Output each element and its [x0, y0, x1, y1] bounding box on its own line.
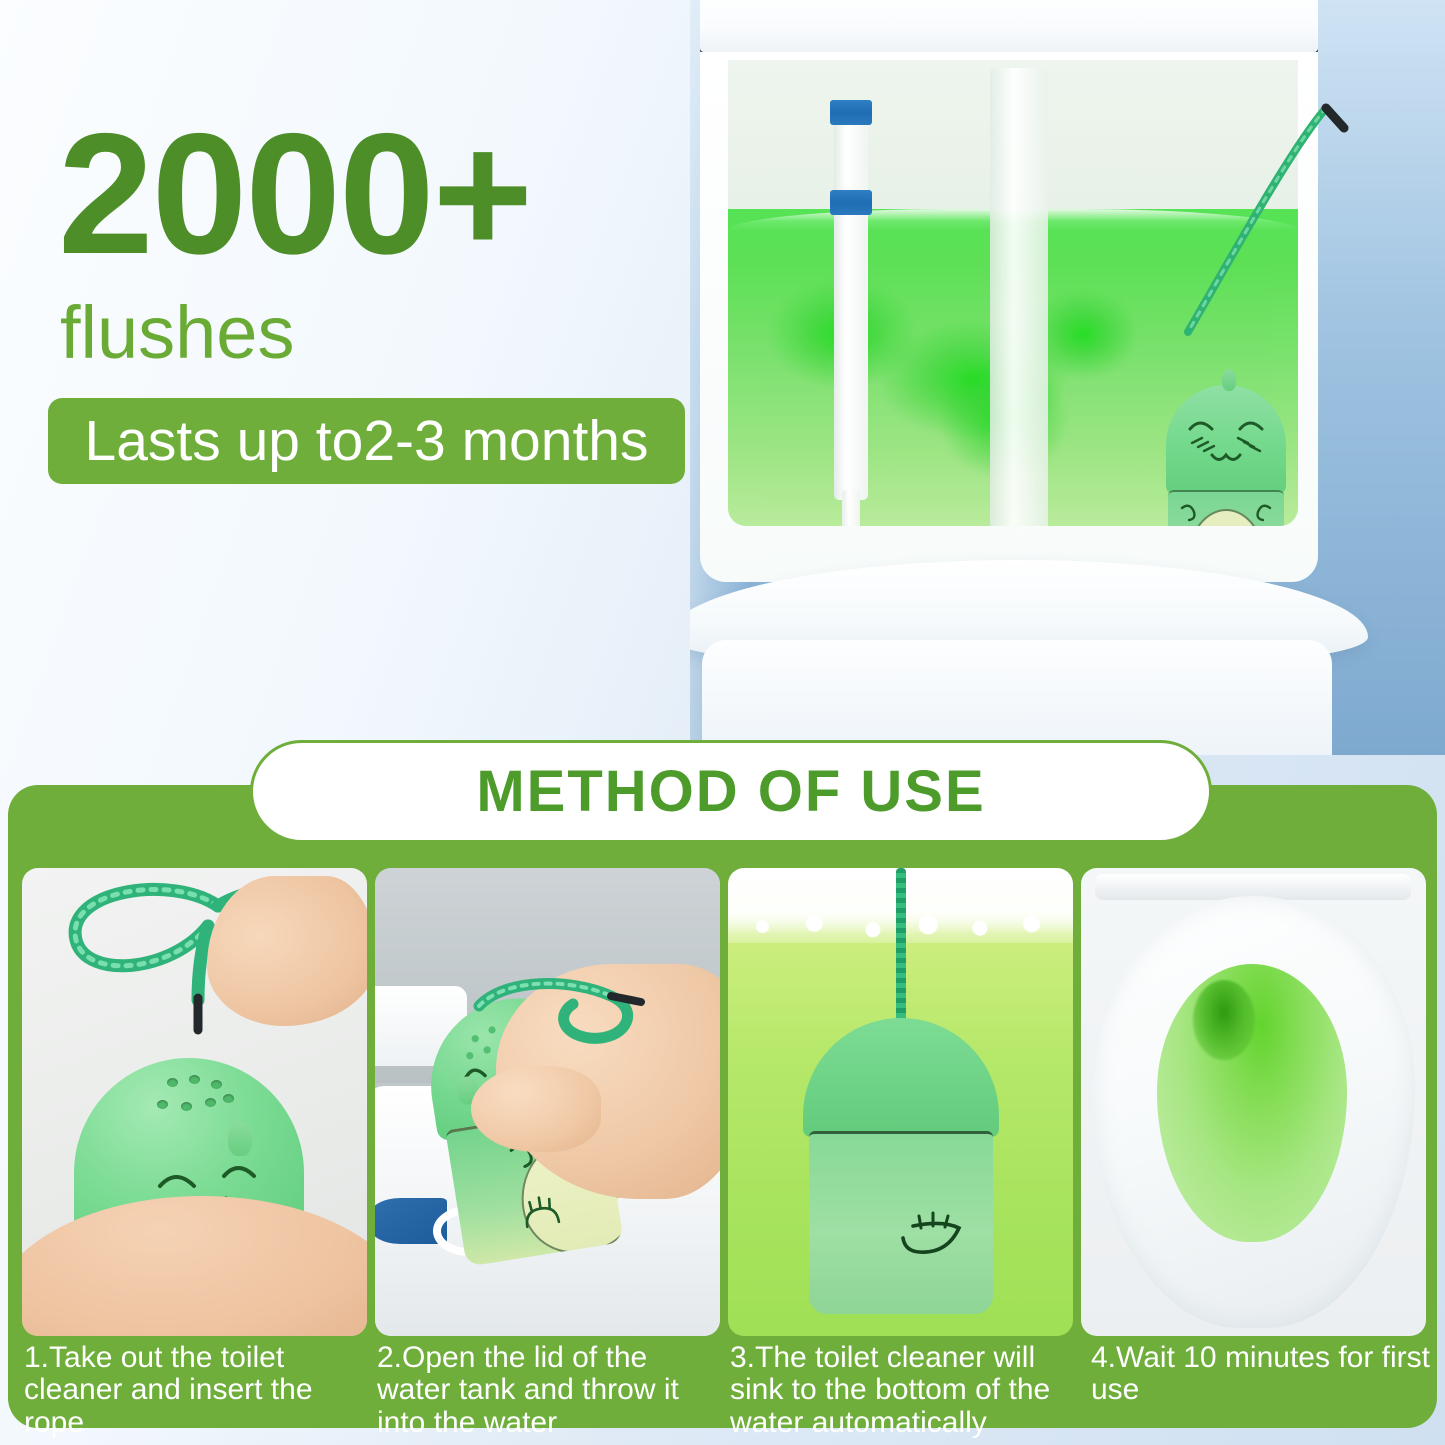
fill-valve-band-lower [830, 190, 872, 215]
toilet-tank-cavity [728, 60, 1298, 526]
cleaner-arms-feet-icon [1168, 492, 1284, 526]
fill-valve-band-top [830, 100, 872, 125]
water-swirl [1193, 980, 1255, 1060]
step-photo-1 [22, 868, 367, 1336]
step-caption-1: 1.Take out the toilet cleaner and insert… [24, 1342, 369, 1434]
step-caption-2: 2.Open the lid of the water tank and thr… [377, 1342, 722, 1434]
steps-caption-row: 1.Take out the toilet cleaner and insert… [24, 1342, 1428, 1434]
step-photo-3 [728, 868, 1073, 1336]
fill-valve [834, 100, 868, 500]
cleaner-cap [1166, 385, 1286, 494]
hanging-rope [896, 868, 906, 1028]
steps-photo-row [22, 868, 1428, 1338]
headline-subtitle: flushes [60, 296, 294, 370]
dinosaur-cleaner-in-tank [1166, 385, 1286, 526]
hand-fingers [207, 876, 367, 1026]
overflow-tube [990, 68, 1048, 526]
duration-badge-label: Lasts up to2-3 months [85, 408, 649, 474]
hero-product-scene [690, 0, 1445, 755]
cleaner-cap [803, 1018, 999, 1137]
fill-valve-stem [842, 490, 860, 526]
cleaner-mouth-icon [809, 1134, 1005, 1314]
toilet-tank-body [700, 52, 1318, 582]
toilet-bowl-body [702, 640, 1332, 755]
method-of-use-title: METHOD OF USE [476, 758, 985, 825]
duration-badge: Lasts up to2-3 months [48, 398, 685, 484]
rope-loop-icon [375, 968, 720, 1168]
method-of-use-banner: METHOD OF USE [250, 740, 1212, 843]
cleaner-face-icon [1166, 385, 1286, 495]
step-photo-2 [375, 868, 720, 1336]
step-photo-4 [1081, 868, 1426, 1336]
page-title: 2000+ [58, 108, 531, 280]
toilet-tank-lid [700, 0, 1318, 52]
cleaner-product [803, 1018, 999, 1308]
cleaner-body [1168, 490, 1284, 526]
cleaner-body [809, 1131, 993, 1314]
cleaner-horn [1222, 369, 1236, 391]
step-caption-4: 4.Wait 10 minutes for first use [1091, 1342, 1436, 1434]
step-caption-3: 3.The toilet cleaner will sink to the bo… [730, 1342, 1083, 1434]
